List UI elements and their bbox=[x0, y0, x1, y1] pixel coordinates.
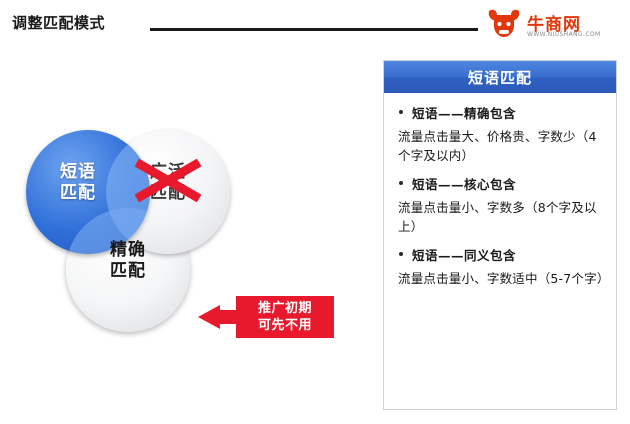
page-header: 调整匹配模式 牛商网 WWW.NIUSHANG.COM bbox=[0, 0, 630, 52]
bullet-dot-icon bbox=[399, 110, 403, 114]
brand-logo: 牛商网 WWW.NIUSHANG.COM bbox=[487, 8, 619, 48]
bullet-description: 流量点击量大、价格贵、字数少（4个字及以内） bbox=[398, 127, 604, 165]
red-cross-icon bbox=[136, 158, 200, 200]
panel-body: 短语——精确包含 流量点击量大、价格贵、字数少（4个字及以内） 短语——核心包含… bbox=[384, 93, 616, 409]
venn-label-exact: 精确 匹配 bbox=[74, 240, 182, 282]
page-title: 调整匹配模式 bbox=[12, 12, 105, 33]
venn-label-exact-line2: 匹配 bbox=[74, 261, 182, 282]
list-item: 短语——同义包含 bbox=[396, 245, 604, 264]
callout-line1: 推广初期 bbox=[236, 300, 334, 317]
list-item: 短语——精确包含 bbox=[396, 103, 604, 122]
bullet-title: 短语——同义包含 bbox=[412, 248, 516, 263]
venn-label-exact-line1: 精确 bbox=[74, 240, 182, 261]
bull-head-icon bbox=[487, 8, 521, 40]
bullet-description: 流量点击量小、字数适中（5-7个字） bbox=[398, 269, 604, 288]
panel-header: 短语匹配 bbox=[384, 61, 616, 93]
bullet-description: 流量点击量小、字数多（8个字及以上） bbox=[398, 198, 604, 236]
list-item: 短语——核心包含 bbox=[396, 174, 604, 193]
bullet-dot-icon bbox=[399, 181, 403, 185]
callout-text: 推广初期 可先不用 bbox=[236, 300, 334, 334]
callout-box: 推广初期 可先不用 bbox=[236, 296, 334, 338]
bullet-dot-icon bbox=[399, 252, 403, 256]
panel-title: 短语匹配 bbox=[384, 67, 616, 88]
logo-subtext: WWW.NIUSHANG.COM bbox=[527, 31, 601, 38]
phrase-match-panel: 短语匹配 短语——精确包含 流量点击量大、价格贵、字数少（4个字及以内） 短语—… bbox=[383, 60, 617, 410]
callout-line2: 可先不用 bbox=[236, 317, 334, 334]
left-arrow-icon bbox=[198, 305, 220, 329]
header-divider bbox=[150, 28, 478, 31]
venn-diagram: 短语 匹配 广泛 匹配 精确 匹配 bbox=[18, 120, 268, 370]
bullet-title: 短语——精确包含 bbox=[412, 106, 516, 121]
venn-label-phrase-line2: 匹配 bbox=[32, 183, 124, 204]
venn-label-phrase: 短语 匹配 bbox=[32, 162, 124, 204]
venn-label-phrase-line1: 短语 bbox=[32, 162, 124, 183]
bullet-title: 短语——核心包含 bbox=[412, 177, 516, 192]
